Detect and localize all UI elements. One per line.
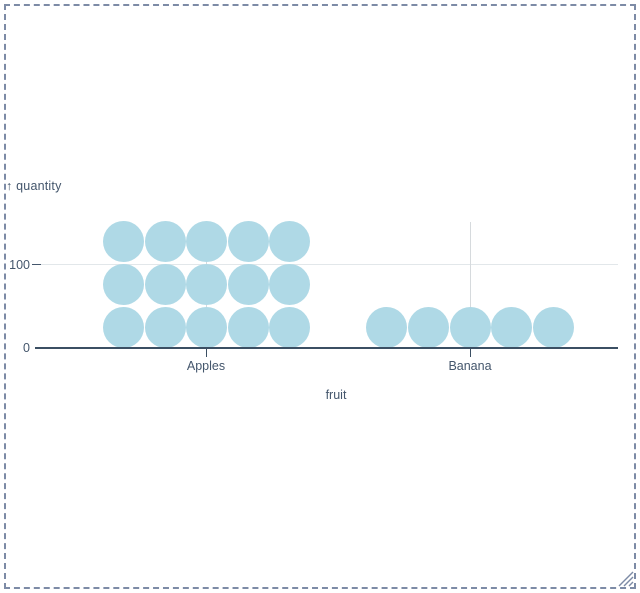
resize-grip-icon[interactable] [618,571,634,587]
symbol-dot [269,221,310,262]
y-axis-arrow-icon: ↑ [6,179,12,193]
symbol-dot [366,307,407,348]
symbol-dot [408,307,449,348]
x-tick-mark-apples [206,349,207,357]
symbol-dot [269,264,310,305]
symbol-dot [269,307,310,348]
y-tick-100: 100 [0,258,30,272]
symbol-dot [450,307,491,348]
symbol-dot [103,221,144,262]
x-tick-mark-banana [470,349,471,357]
symbol-dot [145,307,186,348]
x-tick-label-apples: Apples [187,359,225,373]
y-tick-0: 0 [0,341,30,355]
symbol-dot [533,307,574,348]
x-axis-baseline [35,347,618,349]
symbol-dot [228,221,269,262]
y-tick-label-0: 0 [23,341,30,355]
pictogram-chart: ↑ quantity 100 0 [0,0,640,593]
symbol-dot [186,221,227,262]
y-tick-mark-100 [32,264,41,265]
symbol-dot [145,264,186,305]
y-axis-title: ↑ quantity [6,179,62,193]
y-tick-label-100: 100 [9,258,30,272]
symbol-dot [103,264,144,305]
symbol-dot [186,264,227,305]
symbol-dot [145,221,186,262]
symbol-dot [228,307,269,348]
symbol-dot [228,264,269,305]
x-tick-label-banana: Banana [448,359,491,373]
symbol-dot [186,307,227,348]
symbol-dot [491,307,532,348]
y-axis-title-label: quantity [16,179,61,193]
chart-canvas: ↑ quantity 100 0 [0,0,640,593]
x-axis-title: fruit [0,388,640,402]
symbol-dot [103,307,144,348]
